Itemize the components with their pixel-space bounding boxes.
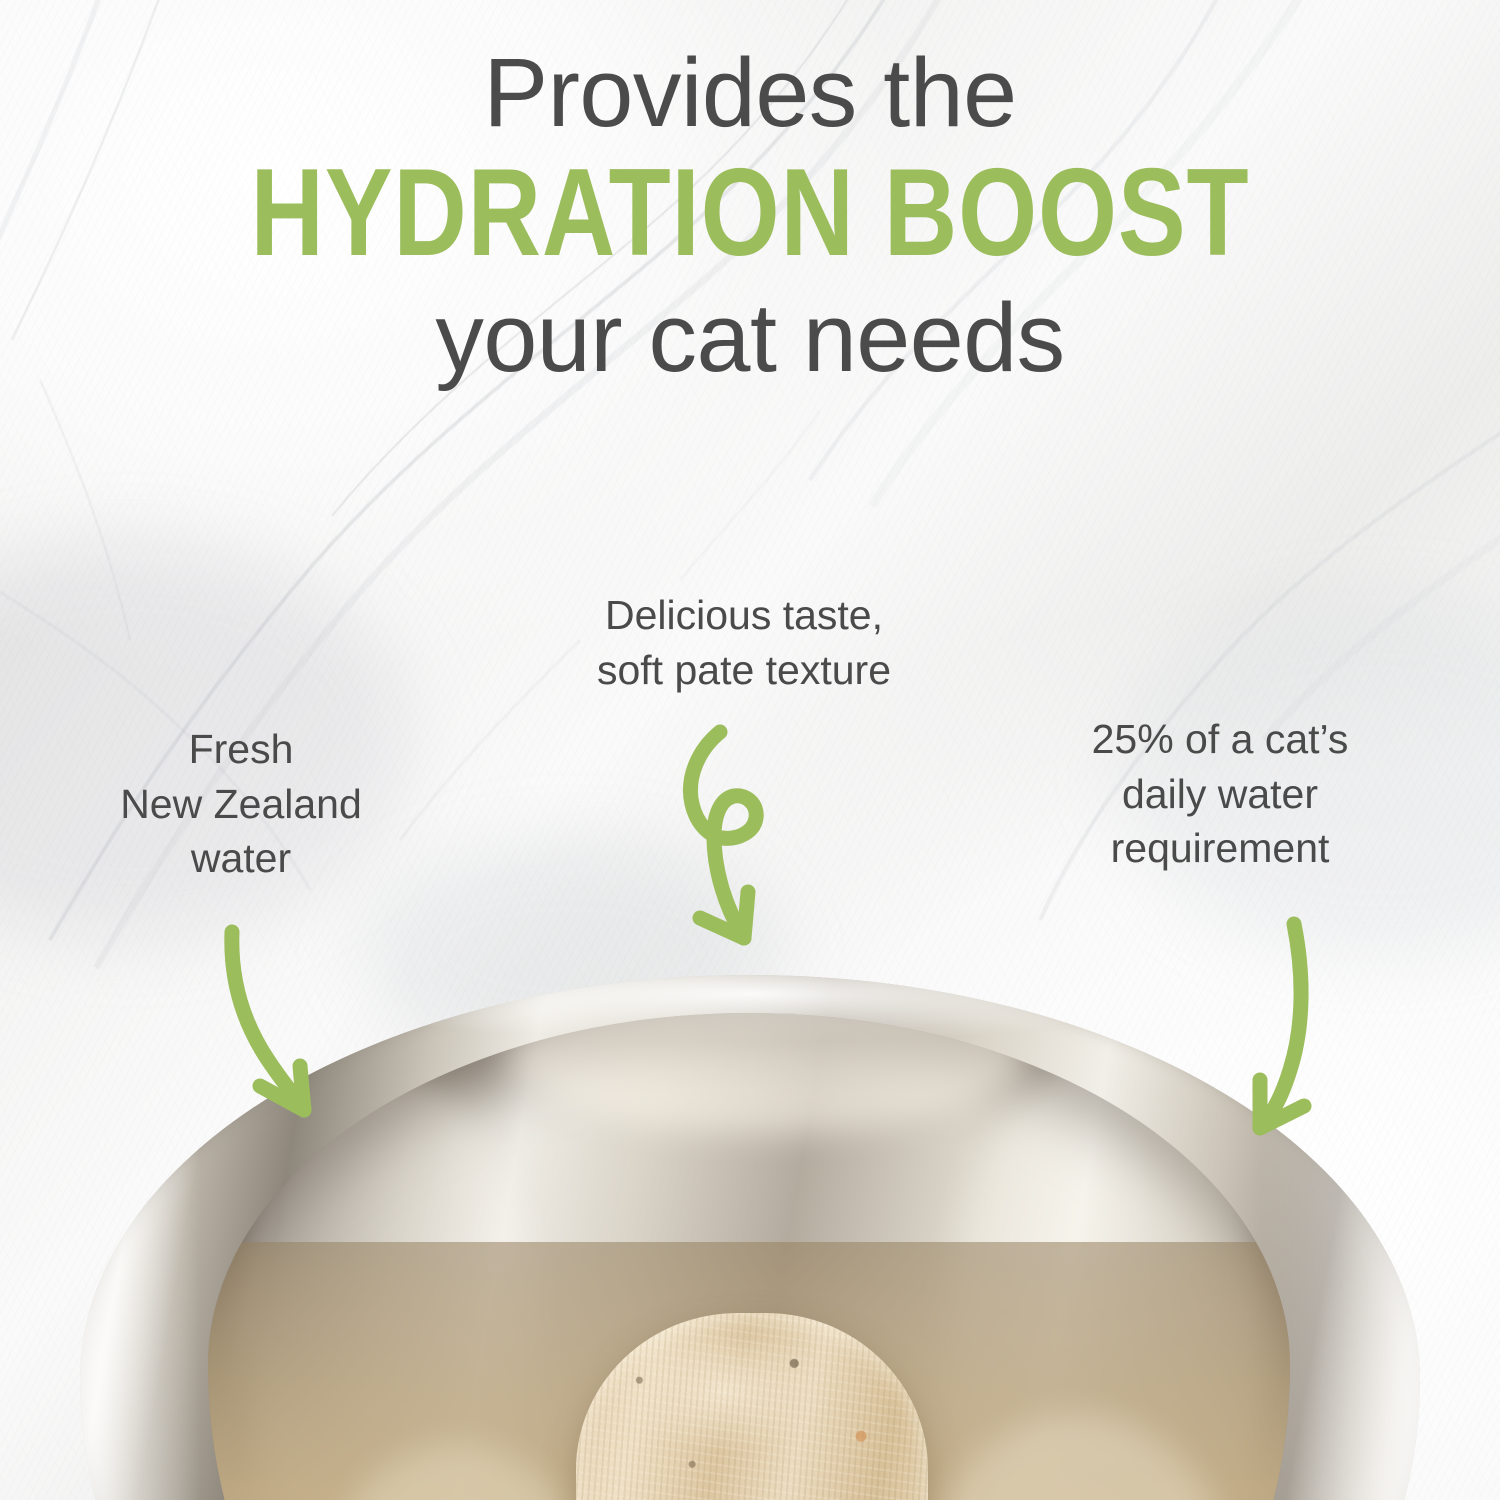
curved-arrow-down-left [200, 920, 340, 1130]
headline-line-1: Provides the [0, 44, 1500, 141]
looped-curved-arrow-down-middle [672, 726, 792, 958]
headline-line-2-accent: HYDRATION BOOST [135, 151, 1365, 275]
curved-arrow-down-right [1230, 918, 1360, 1140]
annotation-text-left: Fresh New Zealand water [66, 722, 416, 886]
headline-block: Provides the HYDRATION BOOST your cat ne… [0, 44, 1500, 386]
infographic-canvas: Provides the HYDRATION BOOST your cat ne… [0, 0, 1500, 1500]
annotation-text-right: 25% of a cat’s daily water requirement [1040, 712, 1400, 876]
pate-loaf [576, 1313, 928, 1500]
pate-texture [576, 1313, 928, 1500]
annotation-text-middle: Delicious taste, soft pate texture [524, 588, 964, 697]
headline-line-3: your cat needs [0, 289, 1500, 386]
